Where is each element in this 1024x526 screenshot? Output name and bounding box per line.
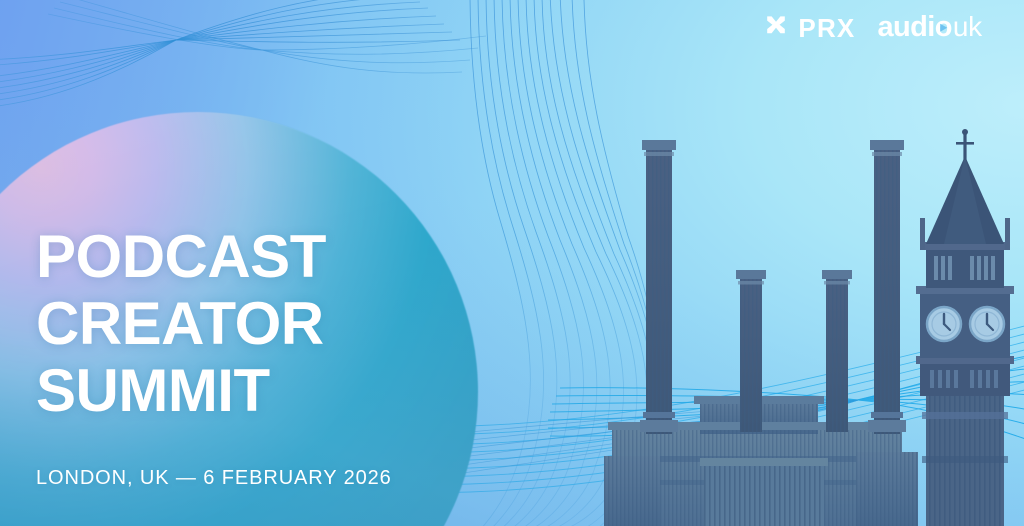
partner-logo-bar: PRX audi o uk — [763, 12, 982, 43]
prx-logo[interactable]: PRX — [763, 12, 855, 43]
audiouk-wordmark-suffix: uk — [953, 13, 982, 41]
title-line-creator: CREATOR — [36, 295, 326, 354]
chimney-mid-left-short — [736, 270, 766, 432]
chimney-mid-right-short — [822, 270, 852, 432]
event-title: PODCAST CREATOR SUMMIT — [36, 228, 326, 420]
chimney-left-tall — [640, 140, 678, 434]
event-location-and-date: LONDON, UK — 6 FEBRUARY 2026 — [36, 468, 392, 488]
chimney-right-tall — [868, 140, 906, 434]
clock-face-left — [927, 307, 961, 341]
title-line-summit: SUMMIT — [36, 362, 326, 421]
play-triangle-icon — [939, 22, 948, 32]
big-ben-elizabeth-tower — [916, 129, 1014, 526]
battersea-power-station — [604, 140, 918, 526]
title-line-podcast: PODCAST — [36, 228, 326, 287]
prx-x-mark-icon — [763, 12, 789, 43]
event-promo-banner: PRX audi o uk PODCAST CREATOR SUMMIT LON… — [0, 0, 1024, 526]
london-skyline-graphic — [604, 126, 1024, 526]
prx-wordmark: PRX — [798, 15, 855, 41]
audiouk-logo[interactable]: audi o uk — [877, 13, 982, 42]
clock-face-right — [970, 307, 1004, 341]
audiouk-o-with-play: o — [935, 13, 952, 42]
audiouk-wordmark-bold: audi — [877, 13, 934, 42]
